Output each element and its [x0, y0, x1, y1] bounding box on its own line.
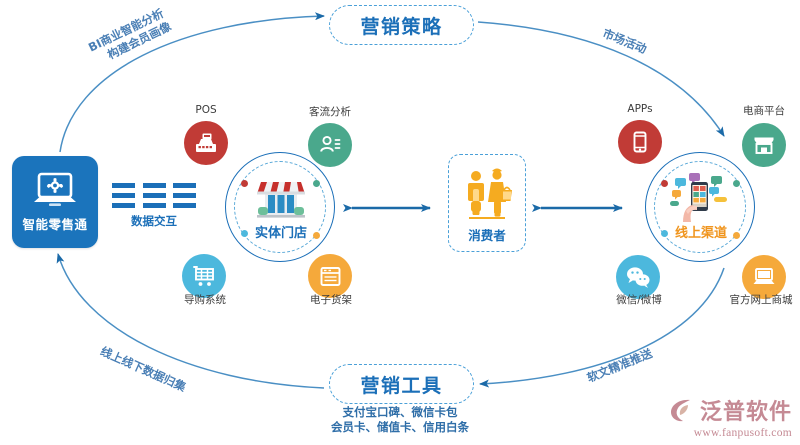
ring-dot-red	[241, 180, 248, 187]
satellite-ecommerce-platform[interactable]	[742, 123, 786, 167]
satellite-guide-system-label: 导购系统	[172, 292, 238, 307]
ring-dot-teal	[313, 180, 320, 187]
fanpu-logo-icon	[668, 396, 696, 424]
data-bars-icon	[112, 183, 196, 208]
cluster-offline-store[interactable]: 实体门店	[225, 152, 337, 264]
browser-window-icon	[319, 265, 342, 288]
pill-marketing-tools[interactable]: 营销工具	[329, 364, 474, 404]
shopping-cart-icon	[192, 264, 217, 289]
pill-marketing-strategy-label: 营销策略	[360, 12, 442, 39]
satellite-apps[interactable]	[618, 120, 662, 164]
cluster-offline-label: 实体门店	[225, 222, 337, 241]
watermark: 泛普软件 www.fanpusoft.com	[668, 394, 792, 439]
ring-dot-teal	[733, 180, 740, 187]
storefront-icon	[253, 174, 309, 222]
marketing-tools-subtitle-line2: 会员卡、储值卡、信用白条	[300, 420, 500, 435]
laptop-icon	[752, 266, 776, 288]
diagram-canvas: 智能零售通 数据交互	[0, 0, 800, 445]
hand-phone-icon	[669, 170, 733, 224]
satellite-ecommerce-platform-label: 电商平台	[728, 103, 800, 118]
cluster-online-channel[interactable]: 线上渠道	[645, 152, 757, 264]
marketing-tools-subtitle: 支付宝口碑、微信卡包 会员卡、储值卡、信用白条	[300, 405, 500, 435]
laptop-gear-icon	[32, 172, 78, 210]
chat-bubbles-icon	[625, 265, 651, 289]
data-exchange-label: 数据交互	[112, 213, 196, 229]
pill-marketing-strategy[interactable]: 营销策略	[329, 5, 474, 45]
watermark-name: 泛普软件	[700, 394, 792, 426]
person-list-icon	[318, 133, 342, 157]
satellite-official-mall-label: 官方网上商城	[722, 292, 800, 307]
cluster-online-label: 线上渠道	[645, 222, 757, 241]
hub-label: 智能零售通	[22, 214, 87, 233]
cash-register-icon	[194, 131, 218, 155]
shop-building-icon	[752, 133, 776, 157]
satellite-pos[interactable]	[184, 121, 228, 165]
consumer-label: 消费者	[468, 225, 506, 244]
data-exchange-group: 数据交互	[112, 183, 196, 229]
satellite-apps-label: APPs	[608, 103, 672, 115]
mobile-phone-icon	[629, 131, 651, 153]
marketing-tools-subtitle-line1: 支付宝口碑、微信卡包	[300, 405, 500, 420]
satellite-traffic-analysis[interactable]	[308, 123, 352, 167]
satellite-traffic-analysis-label: 客流分析	[294, 104, 366, 119]
ring-dot-red	[661, 180, 668, 187]
satellite-pos-label: POS	[174, 104, 238, 116]
satellite-social-label: 微信/微博	[602, 292, 676, 307]
shoppers-icon	[461, 167, 513, 225]
satellite-e-shelf-label: 电子货架	[298, 292, 364, 307]
watermark-url: www.fanpusoft.com	[668, 427, 792, 439]
consumer-card[interactable]: 消费者	[448, 154, 526, 252]
hub-card-smart-retail[interactable]: 智能零售通	[12, 156, 98, 248]
pill-marketing-tools-label: 营销工具	[360, 371, 442, 398]
